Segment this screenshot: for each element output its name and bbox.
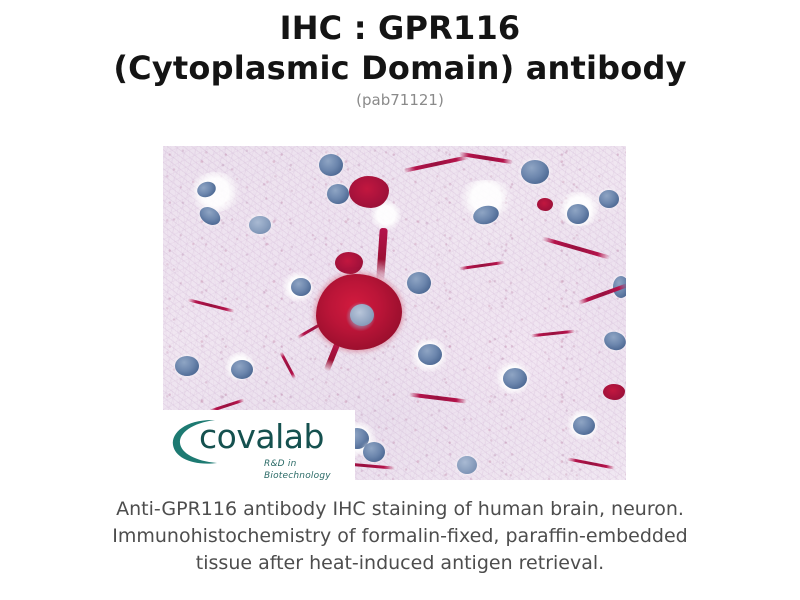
covalab-tagline: R&D in Biotechnology (264, 458, 355, 480)
covalab-logo: covalab R&D in Biotechnology (163, 410, 355, 480)
glial-nucleus (327, 184, 349, 204)
glial-nucleus (457, 456, 477, 474)
stained-deposit (349, 176, 389, 208)
page-title-line-2: (Cytoplasmic Domain) antibody (0, 48, 800, 88)
glial-nucleus (573, 416, 595, 435)
figure-caption: Anti-GPR116 antibody IHC staining of hum… (0, 496, 800, 577)
title-block: IHC : GPR116 (Cytoplasmic Domain) antibo… (0, 8, 800, 110)
logo-inner: covalab R&D in Biotechnology (163, 410, 355, 480)
page-title-line-1: IHC : GPR116 (0, 8, 800, 48)
covalab-wordmark: covalab (199, 418, 324, 456)
glial-nucleus (175, 356, 199, 376)
glial-nucleus (363, 442, 385, 462)
glial-nucleus (521, 160, 549, 184)
glial-nucleus (291, 278, 311, 296)
stained-deposit (335, 252, 363, 274)
glial-nucleus (249, 216, 271, 234)
catalog-number: (pab71121) (0, 90, 800, 110)
caption-line-1: Anti-GPR116 antibody IHC staining of hum… (0, 496, 800, 523)
glial-nucleus (319, 154, 343, 176)
glial-nucleus (231, 360, 253, 379)
caption-line-2: Immunohistochemistry of formalin-fixed, … (0, 523, 800, 550)
stained-deposit (603, 384, 625, 400)
caption-line-3: tissue after heat-induced antigen retrie… (0, 550, 800, 577)
stained-deposit (537, 198, 553, 211)
glial-nucleus (599, 190, 619, 208)
glial-nucleus (407, 272, 431, 294)
neuron-nucleus (350, 304, 374, 326)
glial-nucleus (503, 368, 527, 389)
ihc-micrograph: covalab R&D in Biotechnology (163, 146, 626, 480)
glial-nucleus (418, 344, 442, 365)
glial-nucleus (567, 204, 589, 224)
